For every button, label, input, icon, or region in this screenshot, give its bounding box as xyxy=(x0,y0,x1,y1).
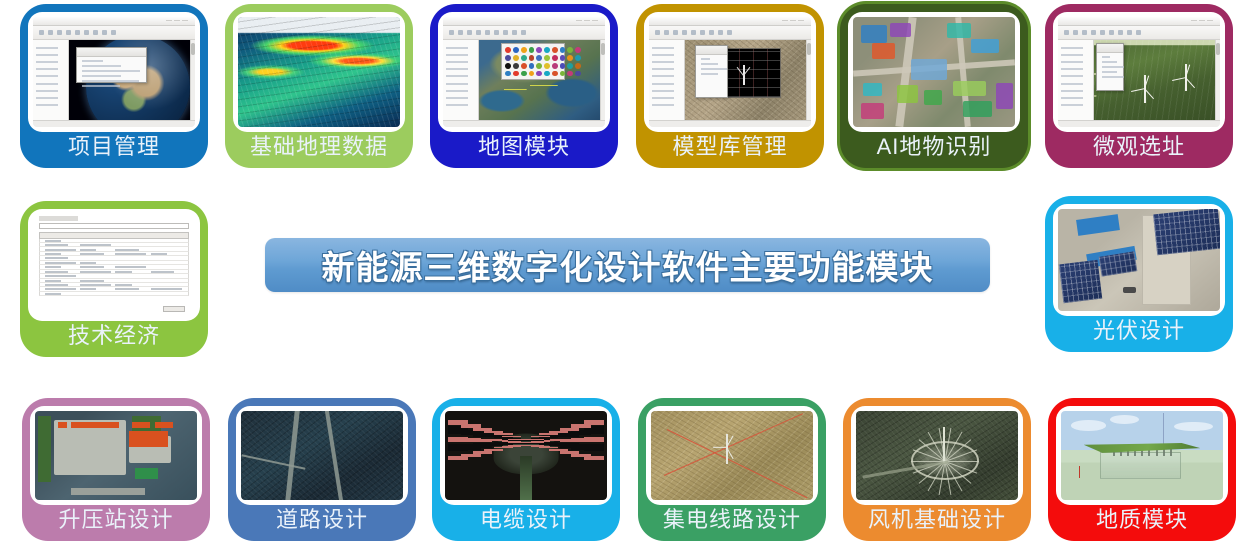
module-thumbnail-model-library-cad-dialog xyxy=(644,12,816,132)
module-card-model-library-management[interactable]: 模型库管理 xyxy=(636,4,824,168)
module-card-label: 技术经济 xyxy=(20,321,208,355)
module-thumbnail-rooftop-solar-aerial xyxy=(1053,204,1225,316)
thumbnail-artwork xyxy=(1053,12,1225,132)
main-title-banner: 新能源三维数字化设计软件主要功能模块 xyxy=(265,238,990,292)
module-card-basic-geographic-data[interactable]: 基础地理数据 xyxy=(225,4,413,168)
thumbnail-artwork xyxy=(233,12,405,132)
thumbnail-artwork xyxy=(30,406,202,505)
module-card-substation-design[interactable]: 升压站设计 xyxy=(22,398,210,541)
module-card-label: 基础地理数据 xyxy=(225,132,413,166)
thumbnail-artwork xyxy=(438,12,610,132)
main-title-text: 新能源三维数字化设计软件主要功能模块 xyxy=(322,241,934,289)
thumbnail-artwork xyxy=(1053,204,1225,316)
thumbnail-artwork xyxy=(1056,406,1228,505)
thumbnail-artwork xyxy=(440,406,612,505)
module-card-geology-module[interactable]: 地质模块 xyxy=(1048,398,1236,541)
module-card-label: 微观选址 xyxy=(1045,132,1233,166)
module-card-road-design[interactable]: 道路设计 xyxy=(228,398,416,541)
module-card-micro-siting[interactable]: 微观选址 xyxy=(1045,4,1233,168)
module-thumbnail-geology-3d-block-model xyxy=(1056,406,1228,505)
thumbnail-artwork xyxy=(28,12,200,132)
module-thumbnail-forest-road-aerial xyxy=(236,406,408,505)
module-card-label: 光伏设计 xyxy=(1045,316,1233,350)
module-card-label: 项目管理 xyxy=(20,132,208,166)
module-card-label: 风机基础设计 xyxy=(843,505,1031,539)
module-thumbnail-substation-layout-plan xyxy=(30,406,202,505)
module-thumbnail-lidar-point-cloud xyxy=(233,12,405,132)
module-card-label: 地质模块 xyxy=(1048,505,1236,539)
thumbnail-artwork xyxy=(236,406,408,505)
module-card-label: 电缆设计 xyxy=(432,505,620,539)
thumbnail-artwork xyxy=(646,406,818,505)
module-thumbnail-economics-data-table xyxy=(28,209,200,321)
thumbnail-artwork xyxy=(848,12,1020,132)
module-card-map-module[interactable]: 地图模块 xyxy=(430,4,618,168)
thumbnail-artwork xyxy=(644,12,816,132)
module-thumbnail-ai-labelled-aerial-imagery xyxy=(848,12,1020,132)
module-card-technical-economics[interactable]: 技术经济 xyxy=(20,201,208,357)
module-thumbnail-turbine-foundation-excavation xyxy=(851,406,1023,505)
module-thumbnail-cable-tunnel-3d xyxy=(440,406,612,505)
module-card-project-management[interactable]: 项目管理 xyxy=(20,4,208,168)
module-card-cable-design[interactable]: 电缆设计 xyxy=(432,398,620,541)
module-card-label: 道路设计 xyxy=(228,505,416,539)
module-thumbnail-collector-line-terrain xyxy=(646,406,818,505)
thumbnail-artwork xyxy=(851,406,1023,505)
module-card-label: 集电线路设计 xyxy=(638,505,826,539)
module-card-turbine-foundation-design[interactable]: 风机基础设计 xyxy=(843,398,1031,541)
module-overview-diagram: 新能源三维数字化设计软件主要功能模块 项目管理基础地理数据地图模块模型库管理AI… xyxy=(0,0,1242,556)
module-thumbnail-satellite-map-symbol-palette xyxy=(438,12,610,132)
module-card-label: AI地物识别 xyxy=(840,132,1028,166)
module-card-collector-line-design[interactable]: 集电线路设计 xyxy=(638,398,826,541)
module-card-ai-feature-recognition[interactable]: AI地物识别 xyxy=(840,4,1028,168)
module-thumbnail-wind-turbine-terrain-viewer xyxy=(1053,12,1225,132)
module-card-label: 升压站设计 xyxy=(22,505,210,539)
module-card-pv-design[interactable]: 光伏设计 xyxy=(1045,196,1233,352)
thumbnail-artwork xyxy=(28,209,200,321)
module-card-label: 模型库管理 xyxy=(636,132,824,166)
module-card-label: 地图模块 xyxy=(430,132,618,166)
module-thumbnail-earth-globe-viewer xyxy=(28,12,200,132)
